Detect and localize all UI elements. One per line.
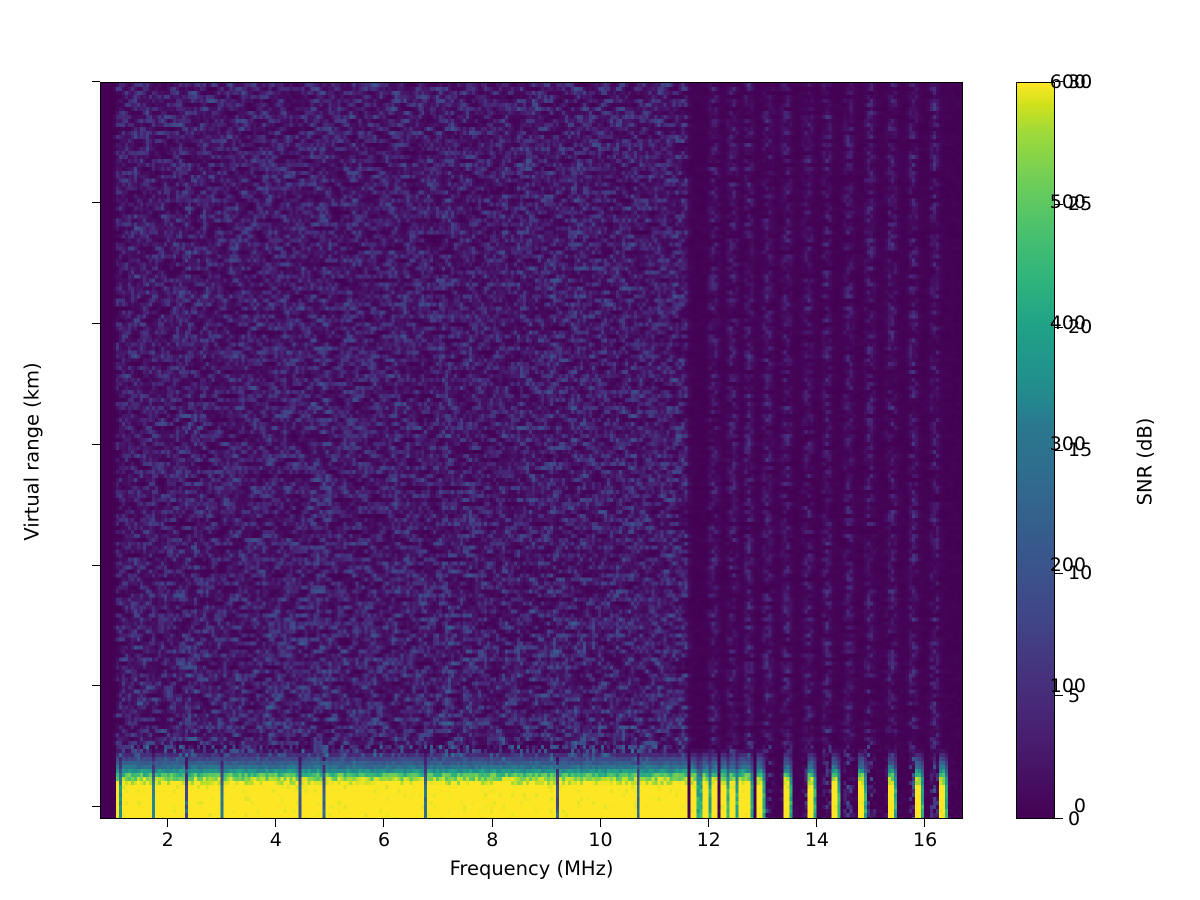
x-tick-mark <box>816 819 817 827</box>
x-tick-mark <box>492 819 493 827</box>
y-tick-mark <box>92 806 100 807</box>
x-tick-mark <box>167 819 168 827</box>
colorbar-tick-mark <box>1055 695 1063 696</box>
y-tick-mark <box>92 202 100 203</box>
x-axis-label: Frequency (MHz) <box>100 857 963 880</box>
colorbar-tick-label: 20 <box>1068 318 1128 337</box>
y-tick-mark <box>92 444 100 445</box>
colorbar-tick-mark <box>1055 81 1063 82</box>
colorbar-tick-label: 5 <box>1068 687 1128 706</box>
y-tick-mark <box>92 81 100 82</box>
colorbar-tick-label: 0 <box>1068 810 1128 829</box>
ionogram-plot-area <box>100 82 963 819</box>
x-tick-label: 4 <box>216 831 336 850</box>
x-tick-mark <box>600 819 601 827</box>
x-tick-label: 10 <box>540 831 660 850</box>
x-tick-mark <box>924 819 925 827</box>
x-tick-mark <box>383 819 384 827</box>
colorbar-tick-mark <box>1055 818 1063 819</box>
ionogram-heatmap <box>101 83 962 818</box>
x-tick-label: 12 <box>649 831 769 850</box>
y-axis-label: Virtual range (km) <box>21 252 44 652</box>
colorbar-tick-label: 25 <box>1068 195 1128 214</box>
colorbar-tick-label: 10 <box>1068 564 1128 583</box>
colorbar-label: SNR (dB) <box>1134 312 1157 612</box>
ionogram-figure: IRF Kiruna Ionosonde KI167 2025-09-30 05… <box>0 0 1200 900</box>
y-tick-mark <box>92 323 100 324</box>
colorbar-tick-mark <box>1055 450 1063 451</box>
x-tick-mark <box>708 819 709 827</box>
colorbar-tick-label: 15 <box>1068 441 1128 460</box>
colorbar-tick-mark <box>1055 204 1063 205</box>
colorbar-tick-mark <box>1055 327 1063 328</box>
x-tick-mark <box>275 819 276 827</box>
y-tick-mark <box>92 685 100 686</box>
colorbar-tick-label: 30 <box>1068 73 1128 92</box>
x-tick-label: 14 <box>757 831 877 850</box>
x-tick-label: 6 <box>324 831 444 850</box>
x-tick-label: 8 <box>432 831 552 850</box>
x-tick-label: 16 <box>865 831 985 850</box>
colorbar-tick-mark <box>1055 573 1063 574</box>
x-tick-label: 2 <box>108 831 228 850</box>
y-tick-mark <box>92 565 100 566</box>
